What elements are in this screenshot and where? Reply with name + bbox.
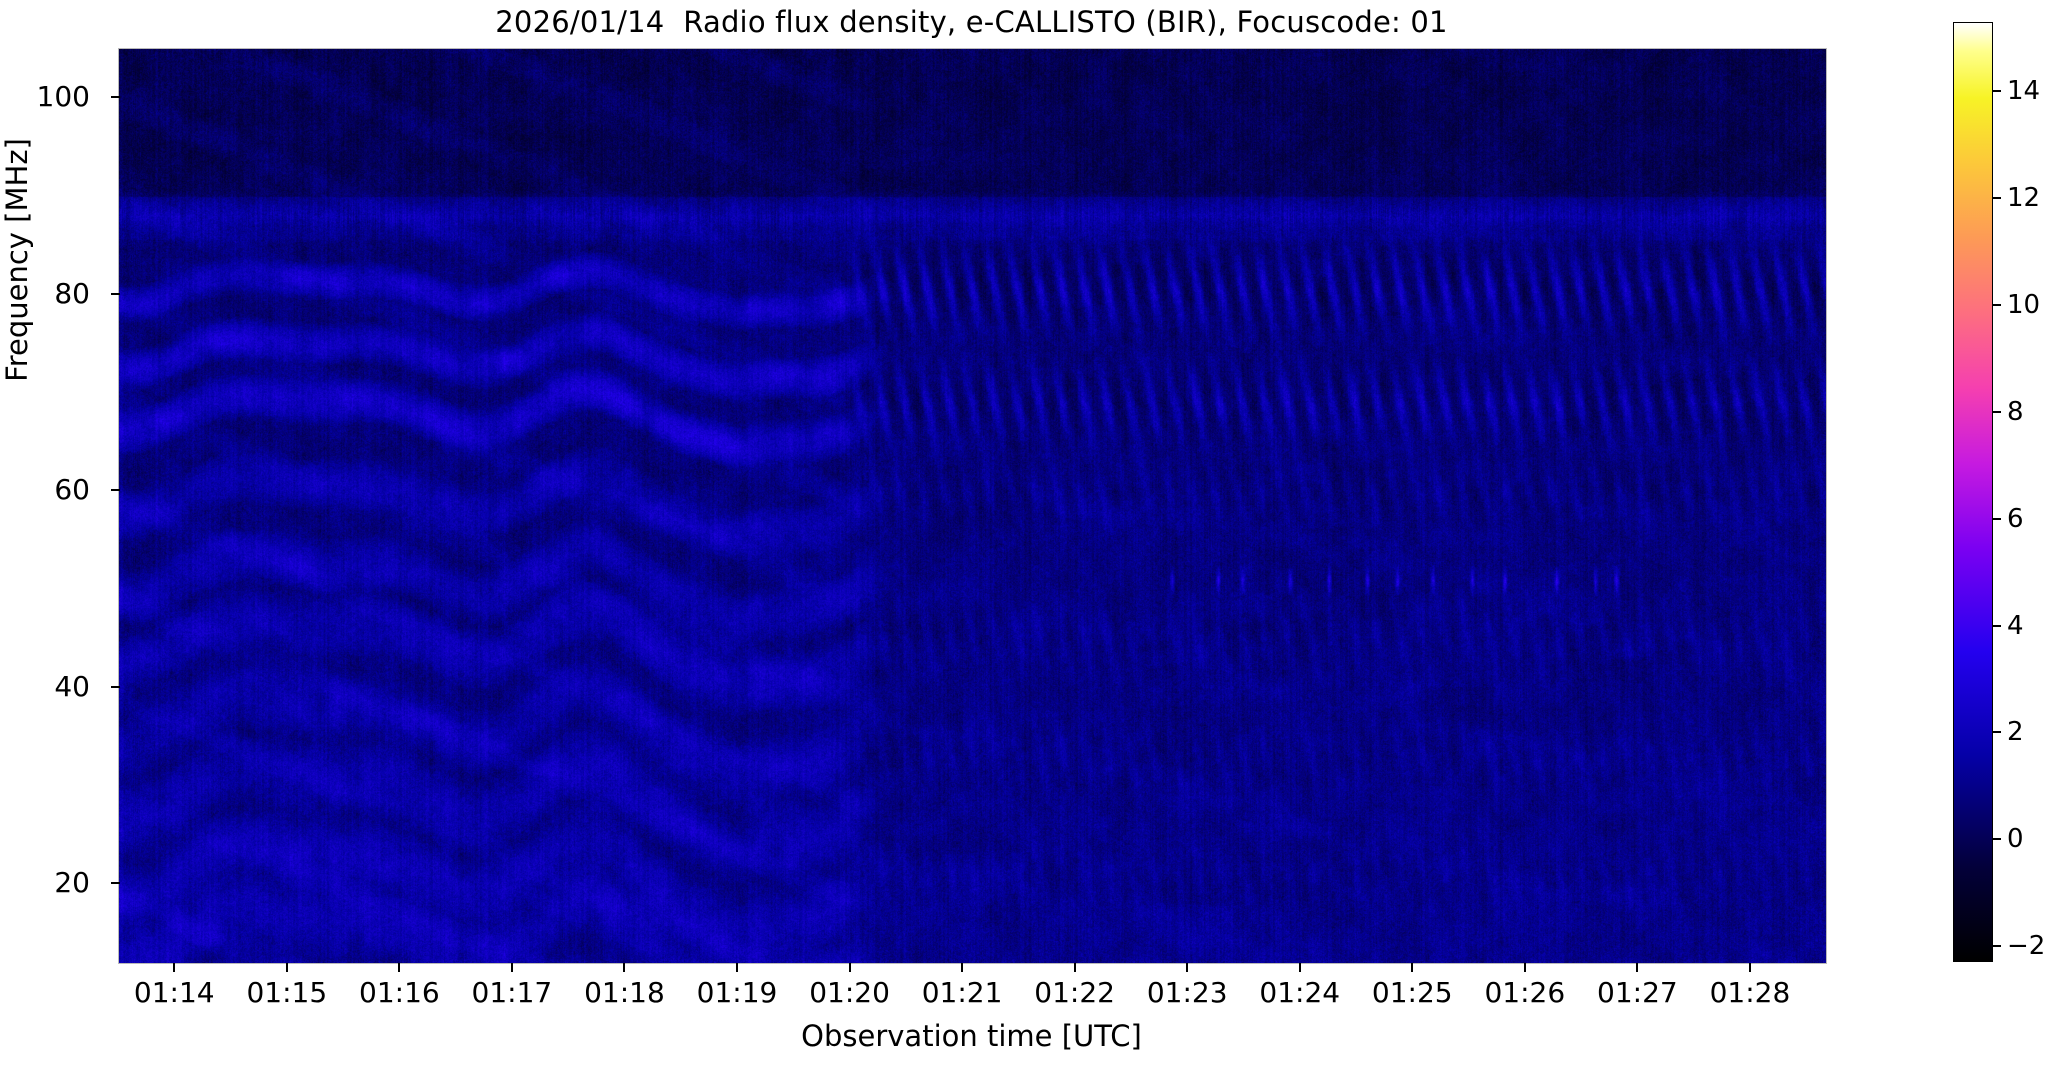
colorbar-tick-label: 10 [2007,292,2040,318]
y-axis-label: Frequency [MHz] [1,0,33,717]
colorbar-tick-label: 6 [2007,506,2024,532]
x-tick-label: 01:23 [1147,976,1228,1010]
colorbar-tick-labels: −202468101214 [1993,22,2053,962]
x-tick-label: 01:24 [1259,976,1340,1010]
x-tick-mark [1749,963,1751,972]
colorbar-tick-label: 4 [2007,613,2024,639]
y-tick-mark [111,489,120,491]
y-tick-label: 20 [54,869,90,897]
colorbar-tick-mark [1993,197,2001,199]
x-tick-label: 01:28 [1710,976,1791,1010]
y-tick-label: 60 [54,476,90,504]
x-tick-mark [1186,963,1188,972]
x-tick-mark [286,963,288,972]
spectrogram-plot-area[interactable] [118,48,1827,964]
x-tick-label: 01:15 [246,976,327,1010]
x-axis-tick-labels: 01:1401:1501:1601:1701:1801:1901:2001:21… [118,976,1825,1016]
x-axis-tick-marks [118,963,1825,973]
y-tick-label: 80 [54,280,90,308]
y-tick-label: 100 [37,83,90,111]
colorbar-tick-mark [1993,731,2001,733]
x-tick-mark [849,963,851,972]
x-tick-mark [511,963,513,972]
x-tick-mark [1299,963,1301,972]
x-tick-label: 01:17 [472,976,553,1010]
x-tick-mark [961,963,963,972]
spectrogram-heatmap [119,49,1826,963]
colorbar-tick-mark [1993,411,2001,413]
colorbar-tick-mark [1993,625,2001,627]
colorbar-tick-label: 8 [2007,399,2024,425]
colorbar-gradient [1953,22,1993,962]
x-tick-mark [736,963,738,972]
x-tick-label: 01:18 [584,976,665,1010]
x-tick-label: 01:22 [1034,976,1115,1010]
x-axis-label: Observation time [UTC] [118,1018,1825,1054]
colorbar[interactable]: −202468101214 [1953,22,1993,962]
x-tick-mark [1636,963,1638,972]
x-tick-mark [173,963,175,972]
x-tick-mark [1074,963,1076,972]
x-tick-label: 01:25 [1372,976,1453,1010]
colorbar-tick-mark [1993,304,2001,306]
colorbar-tick-label: 0 [2007,826,2024,852]
x-tick-label: 01:14 [134,976,215,1010]
colorbar-tick-label: 12 [2007,185,2040,211]
y-tick-mark [111,293,120,295]
y-tick-mark [111,96,120,98]
x-tick-mark [623,963,625,972]
x-tick-label: 01:19 [697,976,778,1010]
page-title: 2026/01/14 Radio flux density, e-CALLIST… [118,4,1825,40]
x-tick-label: 01:20 [809,976,890,1010]
y-tick-mark [111,882,120,884]
x-tick-label: 01:21 [922,976,1003,1010]
colorbar-tick-label: 2 [2007,719,2024,745]
x-tick-label: 01:16 [359,976,440,1010]
x-tick-label: 01:26 [1484,976,1565,1010]
x-tick-label: 01:27 [1597,976,1678,1010]
colorbar-tick-mark [1993,518,2001,520]
colorbar-tick-mark [1993,838,2001,840]
colorbar-tick-label: −2 [2007,933,2045,959]
colorbar-tick-mark [1993,945,2001,947]
colorbar-tick-label: 14 [2007,78,2040,104]
y-tick-mark [111,686,120,688]
x-tick-mark [1524,963,1526,972]
x-tick-mark [1411,963,1413,972]
y-tick-label: 40 [54,673,90,701]
colorbar-tick-mark [1993,90,2001,92]
x-tick-mark [398,963,400,972]
